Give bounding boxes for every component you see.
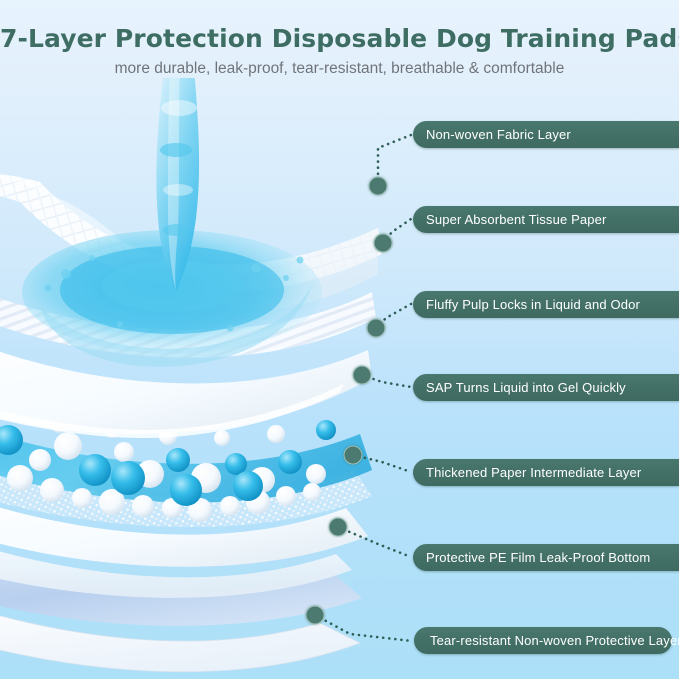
callout-label-3[interactable]: Fluffy Pulp Locks in Liquid and Odor — [413, 291, 679, 318]
callout-label-3-text: Fluffy Pulp Locks in Liquid and Odor — [426, 297, 640, 312]
callout-label-1[interactable]: Non-woven Fabric Layer — [413, 121, 679, 148]
infographic-canvas: 7-Layer Protection Disposable Dog Traini… — [0, 0, 679, 679]
callout-layer: Non-woven Fabric Layer Super Absorbent T… — [0, 0, 679, 679]
callout-dot-4[interactable] — [353, 366, 372, 385]
header: 7-Layer Protection Disposable Dog Traini… — [0, 0, 679, 92]
callout-label-5-text: Thickened Paper Intermediate Layer — [426, 465, 641, 480]
callout-label-5[interactable]: Thickened Paper Intermediate Layer — [413, 459, 679, 486]
callout-label-1-text: Non-woven Fabric Layer — [426, 127, 571, 142]
callout-label-4-text: SAP Turns Liquid into Gel Quickly — [426, 380, 626, 395]
callout-dot-2[interactable] — [374, 234, 393, 253]
callout-label-2-text: Super Absorbent Tissue Paper — [426, 212, 607, 227]
connector-lines — [0, 0, 679, 679]
callout-dot-3[interactable] — [367, 319, 386, 338]
callout-label-4[interactable]: SAP Turns Liquid into Gel Quickly — [413, 374, 679, 401]
callout-label-7-text: Tear-resistant Non-woven Protective Laye… — [430, 633, 679, 648]
page-subtitle: more durable, leak-proof, tear-resistant… — [0, 53, 679, 78]
callout-label-2[interactable]: Super Absorbent Tissue Paper — [413, 206, 679, 233]
callout-dot-5[interactable] — [344, 446, 363, 465]
callout-dot-6[interactable] — [329, 518, 348, 537]
callout-dot-1[interactable] — [369, 177, 388, 196]
callout-label-6[interactable]: Protective PE Film Leak-Proof Bottom — [413, 544, 679, 571]
callout-label-6-text: Protective PE Film Leak-Proof Bottom — [426, 550, 650, 565]
page-title: 7-Layer Protection Disposable Dog Traini… — [0, 0, 679, 53]
callout-label-7[interactable]: Tear-resistant Non-woven Protective Laye… — [414, 627, 672, 654]
callout-dot-7[interactable] — [306, 606, 325, 625]
